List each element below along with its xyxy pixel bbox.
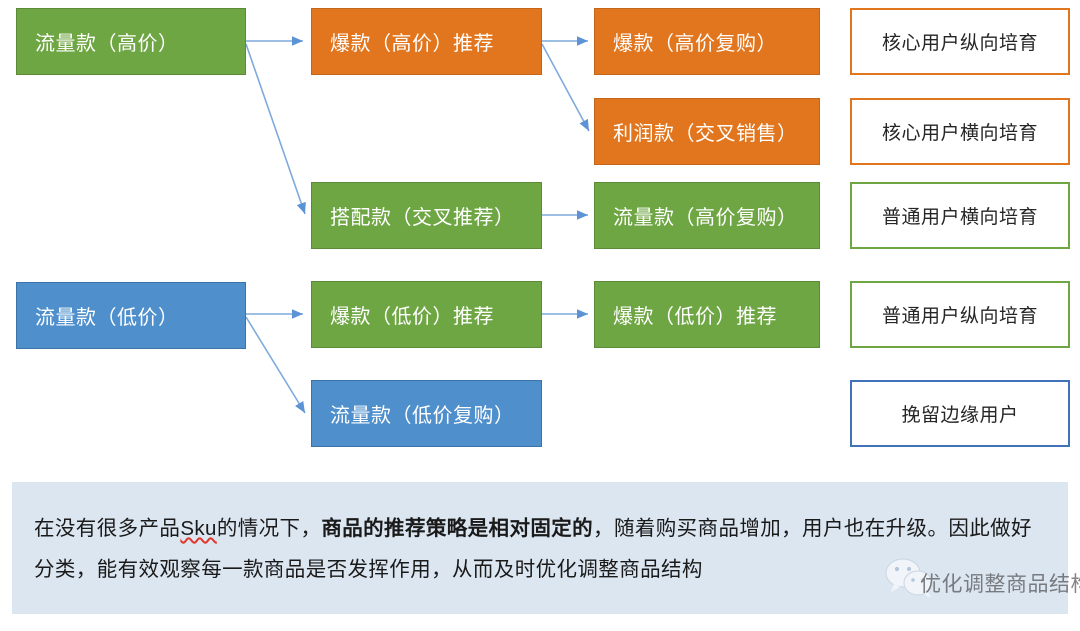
node-baokuan-dijia-tuijian[interactable]: 爆款（低价）推荐 — [311, 281, 542, 348]
node-label: 核心用户横向培育 — [882, 118, 1038, 145]
node-label: 利润款（交叉销售） — [613, 117, 819, 146]
node-label: 爆款（低价）推荐 — [330, 300, 541, 329]
node-putong-yonghu-zongxiang-peiyu[interactable]: 普通用户纵向培育 — [850, 281, 1070, 348]
node-label: 普通用户纵向培育 — [882, 301, 1038, 328]
node-liuliangkuan-dijia[interactable]: 流量款（低价） — [16, 282, 246, 349]
node-baokuan-gaojia-tuijian[interactable]: 爆款（高价）推荐 — [311, 8, 542, 75]
node-label: 流量款（高价） — [35, 27, 245, 56]
node-label: 搭配款（交叉推荐） — [330, 201, 541, 230]
edge-n3-n8 — [542, 44, 589, 131]
node-baokuan-dijia-tuijian-2[interactable]: 爆款（低价）推荐 — [594, 281, 820, 348]
node-liuliangkuan-gaojia-fugou[interactable]: 流量款（高价复购） — [594, 182, 820, 249]
edge-n2-n6 — [246, 317, 305, 413]
node-label: 挽留边缘用户 — [901, 400, 1018, 427]
node-label: 流量款（低价） — [35, 301, 245, 330]
node-dapeikuan-jiaocha-tuijian[interactable]: 搭配款（交叉推荐） — [311, 182, 542, 249]
node-label: 普通用户横向培育 — [882, 202, 1038, 229]
diagram-canvas: 流量款（高价） 流量款（低价） 爆款（高价）推荐 搭配款（交叉推荐） 爆款（低价… — [0, 0, 1080, 631]
edge-n1-n4 — [246, 44, 305, 214]
caption-part2: 的情况下， — [217, 517, 322, 540]
node-wanliu-bianyuan-yonghu[interactable]: 挽留边缘用户 — [850, 380, 1070, 447]
node-label: 爆款（低价）推荐 — [613, 300, 819, 329]
node-putong-yonghu-hengxiang-peiyu[interactable]: 普通用户横向培育 — [850, 182, 1070, 249]
caption-part1: 在没有很多产品 — [34, 517, 180, 540]
caption-misspelled-word: Sku — [180, 517, 217, 540]
node-hexin-yonghu-hengxiang-peiyu[interactable]: 核心用户横向培育 — [850, 98, 1070, 165]
node-label: 爆款（高价复购） — [613, 27, 819, 56]
node-label: 爆款（高价）推荐 — [330, 27, 541, 56]
node-label: 流量款（低价复购） — [330, 399, 541, 428]
node-baokuan-gaojia-fugou[interactable]: 爆款（高价复购） — [594, 8, 820, 75]
node-hexin-yonghu-zongxiang-peiyu[interactable]: 核心用户纵向培育 — [850, 8, 1070, 75]
node-label: 流量款（高价复购） — [613, 201, 819, 230]
node-lirunkuan-jiaocha-xiaoshou[interactable]: 利润款（交叉销售） — [594, 98, 820, 165]
caption-bold-emphasis: 商品的推荐策略是相对固定的 — [321, 517, 593, 540]
node-liuliangkuan-dijia-fugou[interactable]: 流量款（低价复购） — [311, 380, 542, 447]
node-liuliangkuan-gaojia[interactable]: 流量款（高价） — [16, 8, 246, 75]
node-label: 核心用户纵向培育 — [882, 28, 1038, 55]
caption-panel: 在没有很多产品Sku的情况下，商品的推荐策略是相对固定的，随着购买商品增加，用户… — [12, 482, 1068, 614]
